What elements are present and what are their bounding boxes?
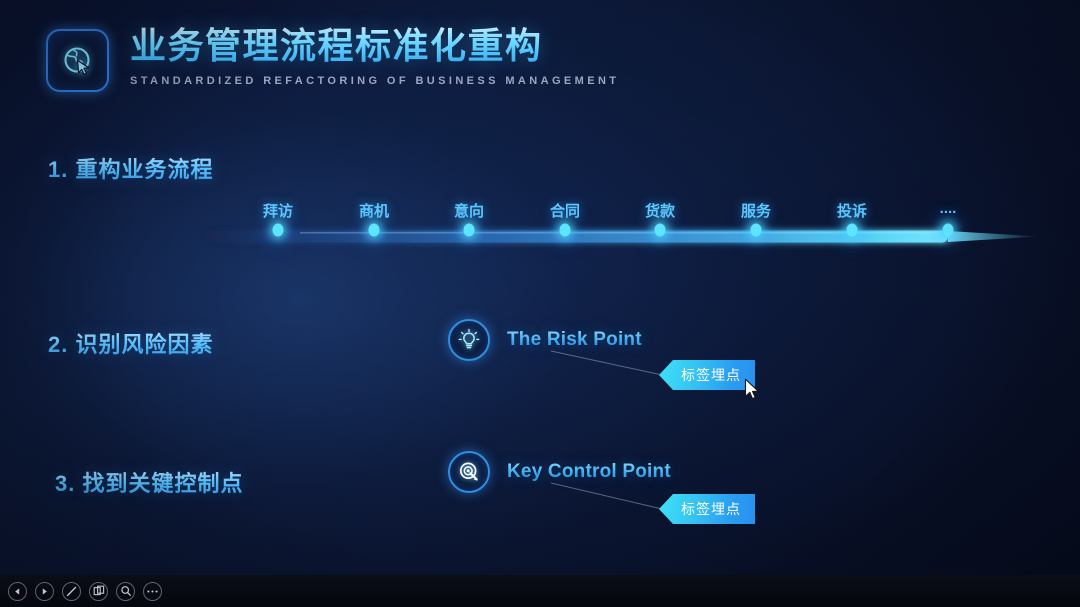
risk-point-label: The Risk Point [507,329,642,351]
timeline-stage-label: 商机 [359,200,389,221]
zoom-button[interactable] [116,582,135,601]
key-control-point-circle [448,451,490,493]
timeline-stage-dot[interactable] [273,224,284,237]
tag-label-risk[interactable]: 标签埋点 [659,360,755,390]
timeline-stage-label: 意向 [454,200,484,221]
slide-header: 业务管理流程标准化重构 STANDARDIZED REFACTORING OF … [46,25,619,92]
ellipsis-icon [146,589,159,594]
node-key-control-point[interactable]: Key Control Point [448,451,671,493]
timeline-stage-dot[interactable] [847,224,858,237]
section-heading-3: 3. 找到关键控制点 [55,466,243,498]
tag-label-control[interactable]: 标签埋点 [659,494,755,524]
timeline-stage-dot[interactable] [751,224,762,237]
slide-overview-button[interactable] [89,582,108,601]
logo-box [46,29,109,92]
timeline-stage-label: 货款 [645,200,675,221]
previous-slide-button[interactable] [8,582,27,601]
magnifier-icon [120,585,132,597]
risk-point-circle [448,319,490,361]
timeline-stage-dot[interactable] [369,224,380,237]
next-slide-button[interactable] [35,582,54,601]
timeline-stage-label: 合同 [550,200,580,221]
timeline-stage-dot[interactable] [560,224,571,237]
node-risk-point[interactable]: The Risk Point [448,319,642,361]
section-heading-2: 2. 识别风险因素 [48,327,213,359]
timeline-stage-label: .... [940,200,957,217]
lightbulb-icon [457,328,481,352]
timeline-stage-label: 服务 [741,200,771,221]
pen-icon [65,585,78,598]
triangle-right-icon [40,587,49,596]
page-title: 业务管理流程标准化重构 [130,25,619,66]
timeline-stage-dot[interactable] [464,224,475,237]
key-control-point-label: Key Control Point [507,461,671,483]
section-heading-1: 1. 重构业务流程 [48,152,213,184]
timeline-stage-label: 投诉 [837,200,867,221]
slide-canvas: 业务管理流程标准化重构 STANDARDIZED REFACTORING OF … [0,0,1080,575]
grid-pages-icon [93,585,105,597]
page-subtitle: STANDARDIZED REFACTORING OF BUSINESS MAN… [130,75,619,87]
timeline-stage-dot[interactable] [943,224,954,237]
timeline-stage-label: 拜访 [263,200,293,221]
timeline-stage-dot[interactable] [655,224,666,237]
pen-annotate-button[interactable] [62,582,81,601]
bottom-toolbar [0,575,1080,607]
more-options-button[interactable] [143,582,162,601]
globe-cursor-icon [60,43,96,79]
triangle-left-icon [13,587,22,596]
title-block: 业务管理流程标准化重构 STANDARDIZED REFACTORING OF … [130,25,619,87]
target-arrow-icon [457,460,481,484]
